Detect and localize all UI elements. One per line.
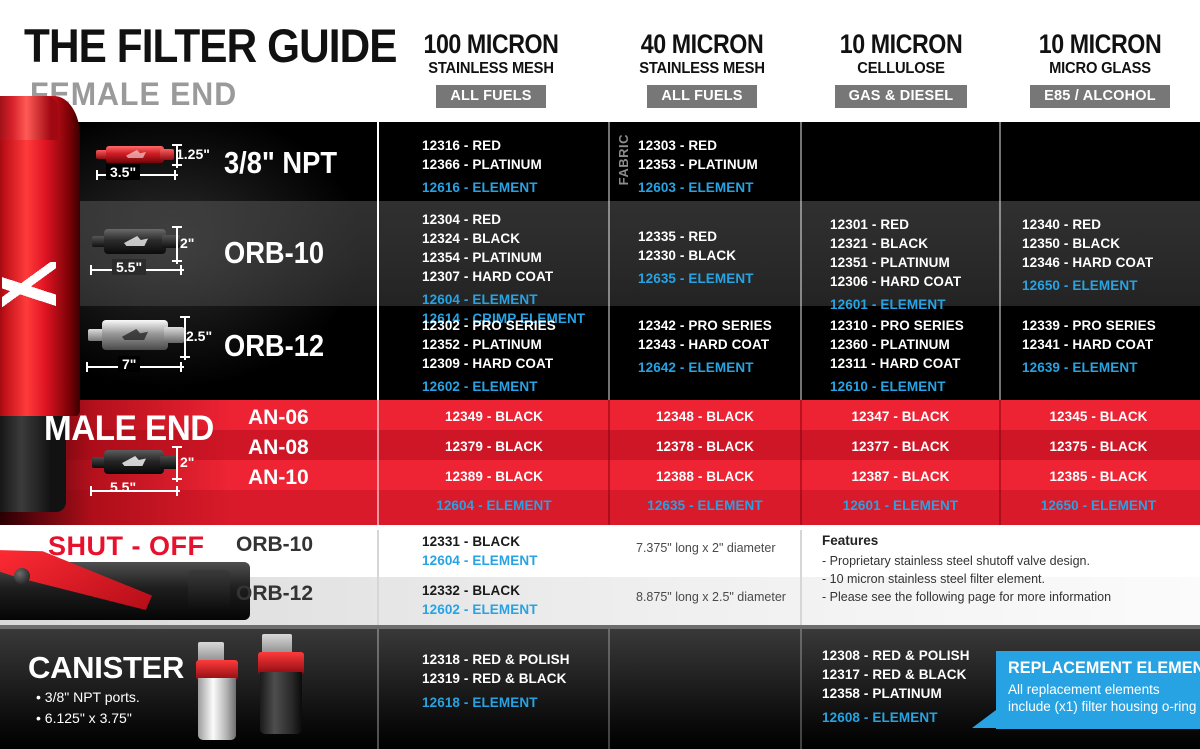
shutoff-valve-end	[188, 570, 230, 612]
part-number: 12346 - HARD COAT	[1022, 253, 1153, 272]
part-number: 12339 - PRO SERIES	[1022, 316, 1156, 335]
row-label-npt: 3/8" NPT	[224, 147, 337, 178]
column-media-label: CELLULOSE	[810, 59, 992, 78]
shutoff-dims-orb12: 8.875" long x 2.5" diameter	[636, 590, 786, 604]
part-number: 12352 - PLATINUM	[422, 335, 556, 354]
part-number: 12317 - RED & BLACK	[822, 665, 970, 684]
male-size-label-an10: AN-10	[248, 466, 309, 490]
dimension-orb12-diameter-label: 2.5"	[186, 328, 212, 344]
cell-orb10-40micron: 12335 - RED 12330 - BLACK 12635 - ELEMEN…	[638, 227, 754, 288]
part-number: 12343 - HARD COAT	[638, 335, 772, 354]
male-part-an08-10micron-microglass: 12375 - BLACK	[1001, 437, 1196, 456]
part-number: 12332 - BLACK	[422, 581, 538, 600]
callout-line: All replacement elements	[1008, 681, 1190, 698]
male-size-label-an08: AN-08	[248, 436, 309, 460]
part-number: 12321 - BLACK	[830, 234, 961, 253]
canister-image-polish	[192, 642, 246, 742]
part-number: 12311 - HARD COAT	[830, 354, 964, 373]
column-micron-label: 10 MICRON	[816, 30, 986, 58]
dimension-orb10-diameter-label: 2"	[180, 235, 194, 251]
canister-top-rule	[0, 625, 1200, 629]
dimension-orb10-length-label: 5.5"	[112, 259, 146, 275]
male-element-10micron-cellulose: 12601 - ELEMENT	[802, 496, 999, 515]
cell-npt-100micron: 12316 - RED 12366 - PLATINUM 12616 - ELE…	[422, 136, 542, 197]
element-part-number: 12610 - ELEMENT	[830, 377, 964, 396]
male-part-an06-10micron-microglass: 12345 - BLACK	[1001, 407, 1196, 426]
part-number: 12301 - RED	[830, 215, 961, 234]
element-part-number: 12604 - ELEMENT	[422, 290, 585, 309]
red-canister-artwork	[0, 96, 80, 416]
column-divider-4	[999, 122, 1001, 400]
dimension-npt-diameter-label: 1.25"	[176, 146, 210, 162]
canister-divider-1	[377, 629, 379, 749]
part-number: 12304 - RED	[422, 210, 585, 229]
male-part-an10-10micron-cellulose: 12387 - BLACK	[802, 467, 999, 486]
shutoff-parts-orb10: 12331 - BLACK 12604 - ELEMENT	[422, 532, 538, 570]
column-header-10-micron-microglass: 10 MICRON MICRO GLASS E85 / ALCOHOL	[1002, 30, 1198, 108]
canister-divider-3	[800, 629, 802, 749]
element-part-number: 12650 - ELEMENT	[1022, 276, 1153, 295]
cell-orb10-10micron-microglass: 12340 - RED 12350 - BLACK 12346 - HARD C…	[1022, 215, 1153, 295]
filter-image-npt	[96, 144, 174, 164]
part-number: 12303 - RED	[638, 136, 758, 155]
canister-bullet: • 6.125" x 3.75"	[36, 708, 132, 729]
part-number: 12316 - RED	[422, 136, 542, 155]
column-header-10-micron-cellulose: 10 MICRON CELLULOSE GAS & DIESEL	[802, 30, 1000, 108]
cell-orb12-10micron-cellulose: 12310 - PRO SERIES 12360 - PLATINUM 1231…	[830, 316, 964, 396]
part-number: 12354 - PLATINUM	[422, 248, 585, 267]
shutoff-title: SHUT - OFF	[48, 531, 204, 562]
column-badge: E85 / ALCOHOL	[1030, 85, 1170, 108]
element-part-number: 12602 - ELEMENT	[422, 377, 556, 396]
fabric-tag-label: FABRIC	[616, 134, 631, 185]
part-number: 12360 - PLATINUM	[830, 335, 964, 354]
male-part-an06-40micron: 12348 - BLACK	[610, 407, 800, 426]
column-badge: ALL FUELS	[647, 85, 756, 108]
filter-guide-sheet: THE FILTER GUIDE FEMALE END 100 MICRON S…	[0, 0, 1200, 749]
column-micron-label: 100 MICRON	[396, 30, 587, 58]
shutoff-feature-item: - Proprietary stainless steel shutoff va…	[822, 553, 1090, 569]
male-part-an10-100micron: 12389 - BLACK	[380, 467, 608, 486]
element-part-number: 12602 - ELEMENT	[422, 600, 538, 619]
male-element-10micron-microglass: 12650 - ELEMENT	[1001, 496, 1196, 515]
canister-title: CANISTER	[28, 650, 184, 686]
part-number: 12358 - PLATINUM	[822, 684, 970, 703]
column-divider-2	[608, 122, 610, 400]
dimension-male-diameter-label: 2"	[180, 454, 194, 470]
column-badge: ALL FUELS	[436, 85, 545, 108]
male-part-an10-40micron: 12388 - BLACK	[610, 467, 800, 486]
shutoff-label-orb12: ORB-12	[236, 582, 313, 606]
male-element-100micron: 12604 - ELEMENT	[380, 496, 608, 515]
shutoff-divider-2	[800, 530, 802, 625]
red-canister-cap	[0, 96, 58, 140]
shutoff-divider-1	[377, 530, 379, 625]
part-number: 12353 - PLATINUM	[638, 155, 758, 174]
guide-table-body: 3.5" 1.25" 5.5" 2" 7"	[0, 122, 1200, 749]
part-number: 12309 - HARD COAT	[422, 354, 556, 373]
part-number: 12324 - BLACK	[422, 229, 585, 248]
part-number: 12308 - RED & POLISH	[822, 646, 970, 665]
part-number: 12319 - RED & BLACK	[422, 669, 570, 688]
part-number: 12330 - BLACK	[638, 246, 754, 265]
dimension-npt-length-label: 3.5"	[106, 164, 140, 180]
filter-image-male	[92, 448, 178, 476]
callout-title: REPLACEMENT ELEMENTS	[1008, 659, 1181, 678]
male-part-an08-100micron: 12379 - BLACK	[380, 437, 608, 456]
callout-line: include (x1) filter housing o-ring	[1008, 698, 1190, 715]
filter-image-orb12	[88, 318, 186, 352]
male-part-an08-40micron: 12378 - BLACK	[610, 437, 800, 456]
element-part-number: 12604 - ELEMENT	[422, 551, 538, 570]
male-size-label-an06: AN-06	[248, 406, 309, 430]
element-part-number: 12616 - ELEMENT	[422, 178, 542, 197]
page-title: THE FILTER GUIDE	[24, 22, 397, 69]
cell-orb10-100micron: 12304 - RED 12324 - BLACK 12354 - PLATIN…	[422, 210, 585, 328]
element-part-number: 12635 - ELEMENT	[638, 269, 754, 288]
shutoff-features-heading: Features	[822, 533, 878, 548]
element-part-number: 12642 - ELEMENT	[638, 358, 772, 377]
canister-parts-10micron-cellulose: 12308 - RED & POLISH 12317 - RED & BLACK…	[822, 646, 970, 727]
column-micron-label: 40 MICRON	[618, 30, 787, 58]
male-part-an06-100micron: 12349 - BLACK	[380, 407, 608, 426]
shutoff-label-orb10: ORB-10	[236, 533, 313, 557]
part-number: 12351 - PLATINUM	[830, 253, 961, 272]
shutoff-dims-orb10: 7.375" long x 2" diameter	[636, 541, 776, 555]
column-divider-3	[800, 122, 802, 400]
row-label-orb12: ORB-12	[224, 330, 324, 361]
part-number: 12335 - RED	[638, 227, 754, 246]
part-number: 12341 - HARD COAT	[1022, 335, 1156, 354]
shutoff-lever-pivot-icon	[14, 568, 30, 584]
replacement-elements-callout: REPLACEMENT ELEMENTS All replacement ele…	[996, 651, 1200, 729]
cell-orb12-40micron: 12342 - PRO SERIES 12343 - HARD COAT 126…	[638, 316, 772, 377]
shutoff-parts-orb12: 12332 - BLACK 12602 - ELEMENT	[422, 581, 538, 619]
callout-tail-icon	[972, 710, 996, 728]
male-part-an06-10micron-cellulose: 12347 - BLACK	[802, 407, 999, 426]
column-media-label: MICRO GLASS	[1010, 59, 1190, 78]
element-part-number: 12639 - ELEMENT	[1022, 358, 1156, 377]
part-number: 12306 - HARD COAT	[830, 272, 961, 291]
part-number: 12310 - PRO SERIES	[830, 316, 964, 335]
cell-orb10-10micron-cellulose: 12301 - RED 12321 - BLACK 12351 - PLATIN…	[830, 215, 961, 314]
column-media-label: STAINLESS MESH	[612, 59, 792, 78]
page-header: THE FILTER GUIDE FEMALE END 100 MICRON S…	[0, 0, 1200, 122]
column-header-100-micron: 100 MICRON STAINLESS MESH ALL FUELS	[380, 30, 602, 108]
male-part-an08-10micron-cellulose: 12377 - BLACK	[802, 437, 999, 456]
canister-divider-2	[608, 629, 610, 749]
column-media-label: STAINLESS MESH	[389, 59, 593, 78]
shutoff-feature-item: - 10 micron stainless steel filter eleme…	[822, 571, 1045, 587]
column-micron-label: 10 MICRON	[1016, 30, 1185, 58]
cell-orb12-100micron: 12302 - PRO SERIES 12352 - PLATINUM 1230…	[422, 316, 556, 396]
male-column-divider-1	[377, 400, 379, 525]
element-part-number: 12603 - ELEMENT	[638, 178, 758, 197]
part-number: 12350 - BLACK	[1022, 234, 1153, 253]
canister-parts-100micron: 12318 - RED & POLISH 12319 - RED & BLACK…	[422, 650, 570, 712]
shutoff-feature-item: - Please see the following page for more…	[822, 589, 1111, 605]
male-part-an10-10micron-microglass: 12385 - BLACK	[1001, 467, 1196, 486]
element-part-number: 12608 - ELEMENT	[822, 708, 970, 727]
column-header-40-micron: 40 MICRON STAINLESS MESH ALL FUELS	[604, 30, 800, 108]
canister-bullet: • 3/8" NPT ports.	[36, 687, 140, 708]
dimension-male-length-label: 5.5"	[110, 479, 136, 495]
male-element-40micron: 12635 - ELEMENT	[610, 496, 800, 515]
part-number: 12366 - PLATINUM	[422, 155, 542, 174]
part-number: 12340 - RED	[1022, 215, 1153, 234]
row-label-orb10: ORB-10	[224, 237, 324, 268]
part-number: 12331 - BLACK	[422, 532, 538, 551]
element-part-number: 12618 - ELEMENT	[422, 693, 570, 712]
cell-orb12-10micron-microglass: 12339 - PRO SERIES 12341 - HARD COAT 126…	[1022, 316, 1156, 377]
dimension-orb12-length-label: 7"	[118, 356, 140, 372]
part-number: 12302 - PRO SERIES	[422, 316, 556, 335]
part-number: 12307 - HARD COAT	[422, 267, 585, 286]
filter-image-orb10	[92, 227, 180, 255]
part-number: 12342 - PRO SERIES	[638, 316, 772, 335]
column-divider-1	[377, 122, 379, 400]
part-number: 12318 - RED & POLISH	[422, 650, 570, 669]
column-badge: GAS & DIESEL	[835, 85, 968, 108]
element-part-number: 12601 - ELEMENT	[830, 295, 961, 314]
canister-image-black	[254, 634, 312, 742]
cell-npt-40micron: 12303 - RED 12353 - PLATINUM 12603 - ELE…	[638, 136, 758, 197]
aeromotive-logo-icon	[2, 262, 56, 326]
